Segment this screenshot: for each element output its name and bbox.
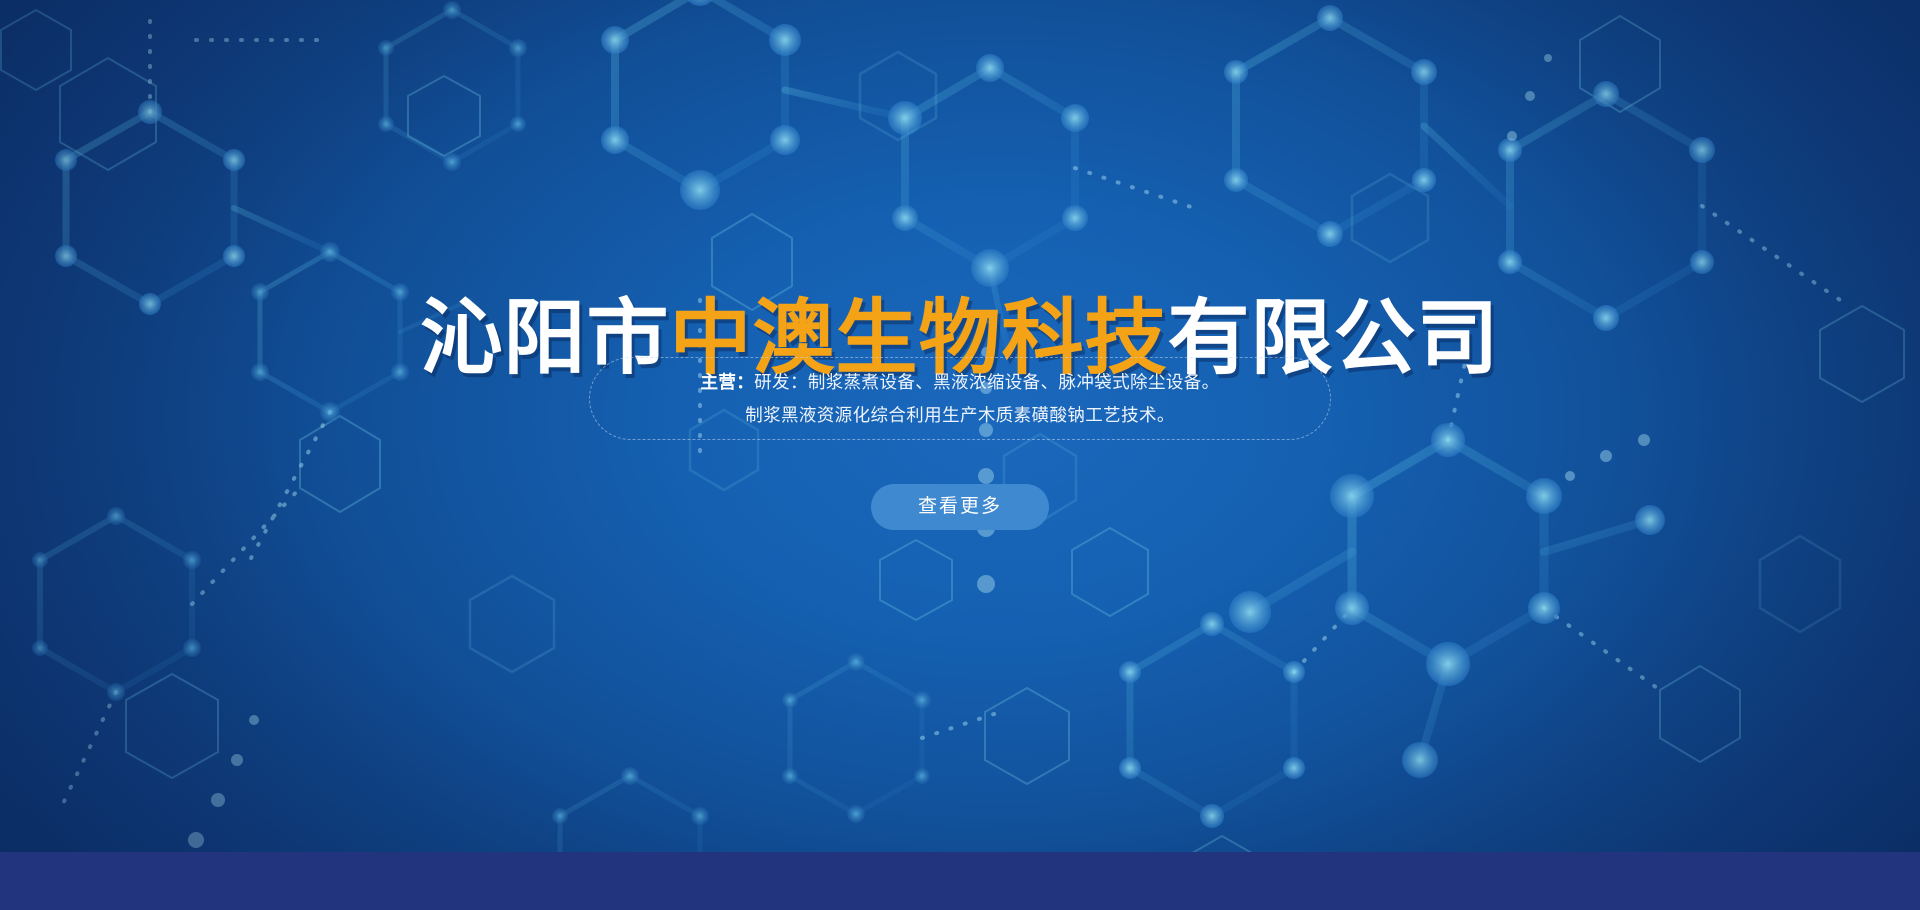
- subtitle-line-1: 主营：研发：制浆蒸煮设备、黑液浓缩设备、脉冲袋式除尘设备。: [700, 366, 1219, 399]
- hero-banner: 沁阳市中澳生物科技有限公司 主营：研发：制浆蒸煮设备、黑液浓缩设备、脉冲袋式除尘…: [0, 0, 1920, 910]
- subtitle-line-1-text: 研发：制浆蒸煮设备、黑液浓缩设备、脉冲袋式除尘设备。: [754, 372, 1219, 392]
- subtitle-line-2: 制浆黑液资源化综合利用生产木质素磺酸钠工艺技术。: [745, 399, 1175, 432]
- subtitle-box: 主营：研发：制浆蒸煮设备、黑液浓缩设备、脉冲袋式除尘设备。 制浆黑液资源化综合利…: [589, 357, 1331, 440]
- bottom-strip: [0, 852, 1920, 910]
- subtitle-label: 主营：: [700, 372, 754, 392]
- view-more-button[interactable]: 查看更多: [871, 484, 1049, 530]
- background-vignette: [0, 0, 1920, 910]
- cta-container: 查看更多: [0, 484, 1920, 530]
